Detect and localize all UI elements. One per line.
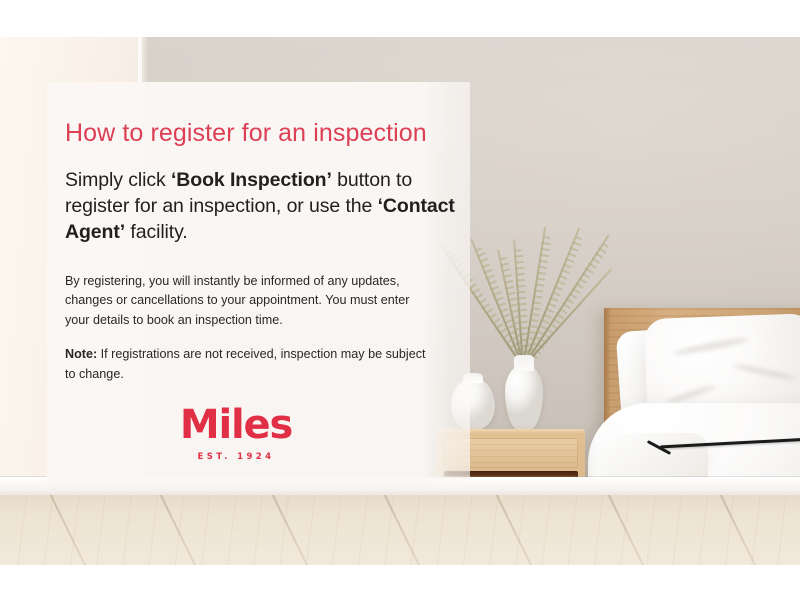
brand-logo: Miles EST. 1924	[47, 405, 425, 462]
note-paragraph: Note: If registrations are not received,…	[65, 345, 437, 384]
vase-tall	[505, 365, 543, 431]
bedroom-photo: How to register for an inspection Simply…	[0, 37, 800, 565]
vase-tall-neck	[514, 355, 534, 371]
pillow-crease	[673, 336, 749, 357]
brand-established: EST. 1924	[47, 452, 425, 462]
page-title: How to register for an inspection	[65, 119, 465, 148]
overlay-content: How to register for an inspection Simply…	[65, 119, 465, 399]
book-inspection-label: ‘Book Inspection’	[171, 169, 332, 191]
brand-name: Miles	[47, 405, 425, 445]
instruction-part-3: facility.	[125, 221, 188, 243]
note-text: If registrations are not received, inspe…	[65, 347, 426, 381]
registration-info-paragraph: By registering, you will instantly be in…	[65, 272, 437, 331]
wood-floor	[0, 495, 800, 565]
screenshot-canvas: How to register for an inspection Simply…	[0, 0, 800, 600]
instruction-text: Simply click ‘Book Inspection’ button to…	[65, 168, 465, 246]
letterbox-bar-top	[0, 0, 800, 37]
note-label: Note:	[65, 347, 97, 361]
letterbox-bar-bottom	[0, 565, 800, 600]
pillow-crease	[732, 362, 796, 381]
instruction-part-1: Simply click	[65, 169, 171, 191]
